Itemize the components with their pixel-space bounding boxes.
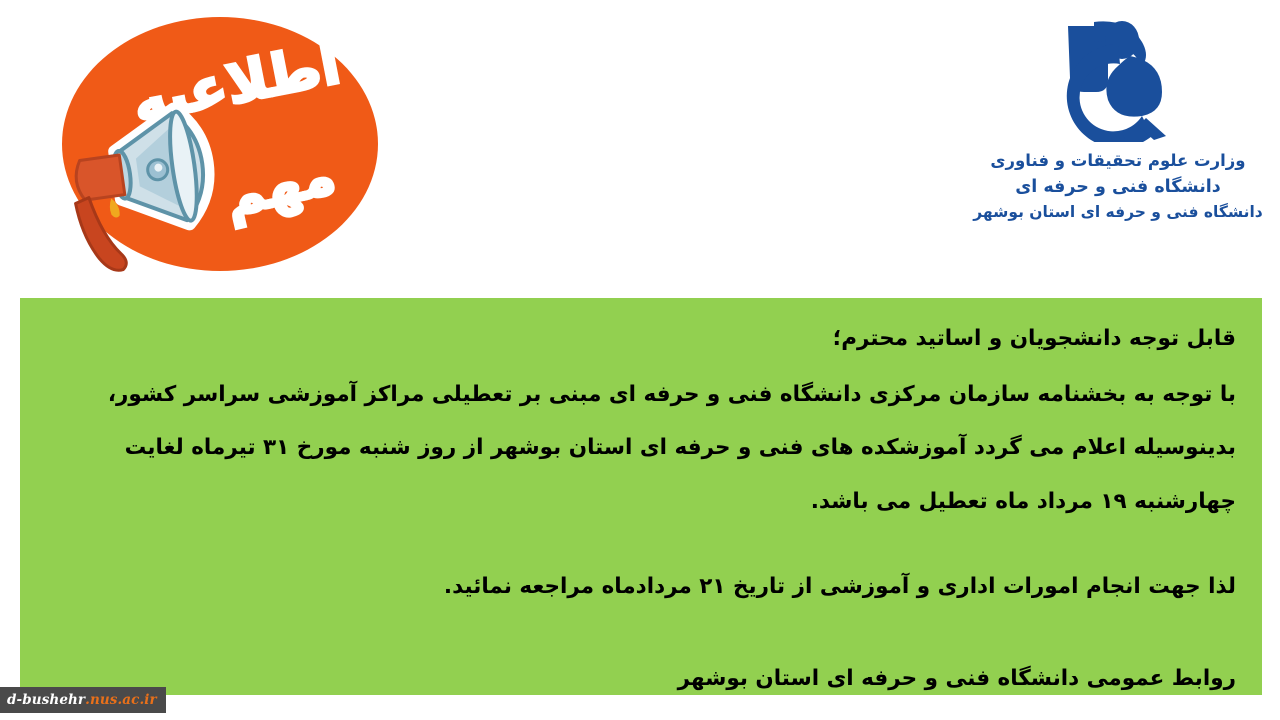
watermark-site-domain: .nus.ac.ir (85, 692, 157, 708)
site-watermark: d-bushehr.nus.ac.ir (0, 687, 166, 713)
announcement-page: اطلاعیه مهم (0, 0, 1280, 720)
notice-salutation: قابل توجه دانشجویان و اساتید محترم؛ (46, 328, 1236, 350)
watermark-site-name: d-bushehr (7, 692, 85, 708)
header-band: اطلاعیه مهم (0, 0, 1280, 298)
logo-caption-ministry: وزارت علوم تحقیقات و فناوری (968, 150, 1268, 173)
notice-body-line-1: با توجه به بخشنامه سازمان مرکزی دانشگاه … (46, 384, 1236, 406)
notice-body-line-3: چهارشنبه ۱۹ مرداد ماه تعطیل می باشد. (46, 491, 1236, 513)
notice-panel: قابل توجه دانشجویان و اساتید محترم؛ با ت… (20, 298, 1262, 695)
logo-caption-university: دانشگاه فنی و حرفه ای (968, 175, 1268, 199)
university-logo-captions: وزارت علوم تحقیقات و فناوری دانشگاه فنی … (968, 150, 1268, 223)
logo-caption-branch: دانشگاه فنی و حرفه ای استان بوشهر (968, 202, 1268, 223)
university-emblem-icon (968, 8, 1268, 148)
university-logo-block: وزارت علوم تحقیقات و فناوری دانشگاه فنی … (968, 8, 1268, 286)
notice-body-line-2: بدینوسیله اعلام می گردد آموزشکده های فنی… (46, 437, 1236, 459)
notice-body-line-4: لذا جهت انجام امورات اداری و آموزشی از ت… (46, 576, 1236, 598)
notice-signature: روابط عمومی دانشگاه فنی و حرفه ای استان … (46, 668, 1236, 690)
announcement-badge: اطلاعیه مهم (44, 4, 404, 290)
